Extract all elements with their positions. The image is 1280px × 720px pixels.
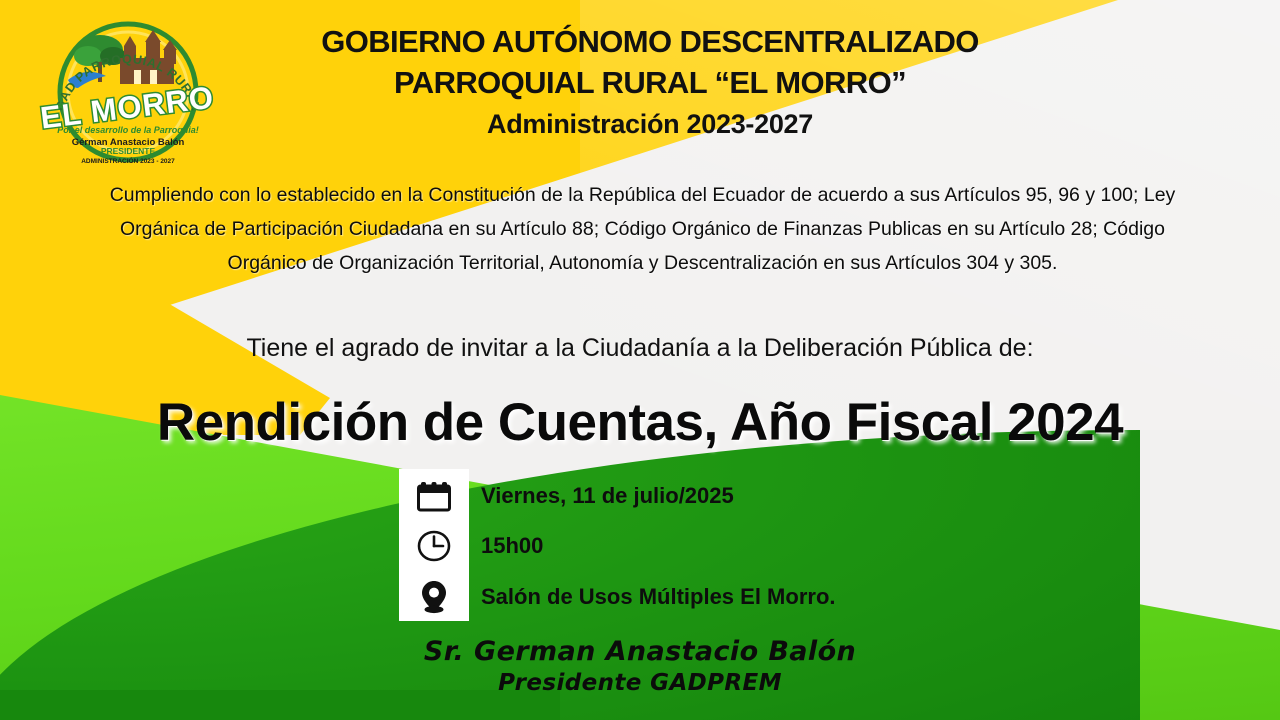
header-line-3: Administración 2023-2027 <box>200 106 1100 142</box>
legal-paragraph: Cumpliendo con lo establecido en la Cons… <box>95 178 1190 280</box>
detail-row-time: 15h00 <box>399 521 1099 571</box>
calendar-icon <box>399 473 469 519</box>
location-pin-icon <box>399 574 469 620</box>
clock-icon <box>399 523 469 569</box>
signature-role: Presidente GADPREM <box>0 669 1280 698</box>
invitation-line: Tiene el agrado de invitar a la Ciudadan… <box>140 332 1140 365</box>
header-line-2: PARROQUIAL RURAL “EL MORRO” <box>200 63 1100 104</box>
event-details: Viernes, 11 de julio/2025 15h00 Saló <box>399 469 1099 621</box>
logo-administration: ADMINISTRACIÓN 2023 - 2027 <box>81 156 175 165</box>
signature-name: Sr. German Anastacio Balón <box>0 636 1280 669</box>
header-line-1: GOBIERNO AUTÓNOMO DESCENTRALIZADO <box>200 22 1100 63</box>
logo-president-role: PRESIDENTE <box>101 146 156 156</box>
page-title: Rendición de Cuentas, Año Fiscal 2024 <box>0 392 1280 453</box>
signature-block: Sr. German Anastacio Balón Presidente GA… <box>0 636 1280 698</box>
detail-value-time: 15h00 <box>469 533 543 559</box>
gad-el-morro-logo: GAD PARROQUIAL RURAL EL MORRO Por el des… <box>28 18 228 166</box>
invitation-poster: GAD PARROQUIAL RURAL EL MORRO Por el des… <box>0 0 1280 720</box>
detail-value-date: Viernes, 11 de julio/2025 <box>469 483 734 509</box>
detail-value-location: Salón de Usos Múltiples El Morro. <box>469 584 836 610</box>
detail-row-date: Viernes, 11 de julio/2025 <box>399 471 1099 521</box>
header-block: GOBIERNO AUTÓNOMO DESCENTRALIZADO PARROQ… <box>200 22 1100 142</box>
logo-slogan: Por el desarrollo de la Parroquia! <box>57 125 199 135</box>
detail-row-location: Salón de Usos Múltiples El Morro. <box>399 572 1099 622</box>
